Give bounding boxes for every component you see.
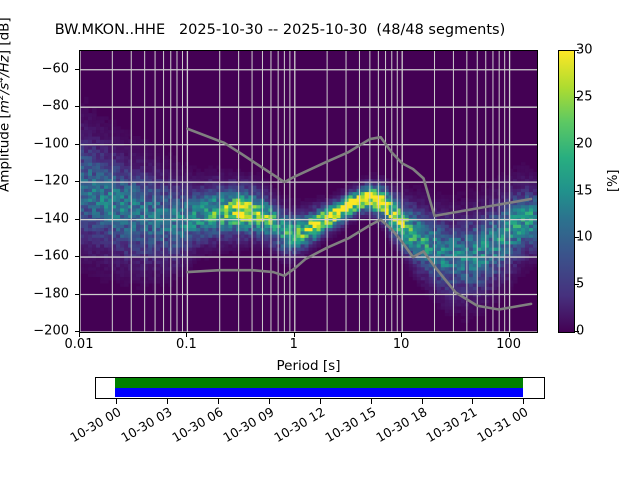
x-tick-label: 10 — [393, 337, 410, 352]
y-tick-label: −140 — [33, 211, 69, 226]
x-axis-label: Period [s] — [79, 358, 538, 374]
colorbar-tick-mark — [575, 97, 579, 98]
timeline-tick-mark — [472, 399, 473, 404]
x-tick-label: 100 — [496, 337, 521, 352]
x-tick-mark — [79, 333, 80, 337]
timeline-bar[interactable] — [95, 377, 545, 399]
x-tick-mark — [186, 333, 187, 337]
x-tick-mark — [401, 333, 402, 337]
colorbar-tick-mark — [575, 237, 579, 238]
colorbar-tick-mark — [575, 284, 579, 285]
timeline-tick-mark — [523, 399, 524, 404]
colorbar-tick-mark — [575, 50, 579, 51]
x-tick-mark — [294, 333, 295, 337]
ppsd-plot-area[interactable] — [79, 50, 538, 333]
y-tick-label: −100 — [33, 136, 69, 151]
ppsd-canvas — [80, 51, 537, 332]
timeline-segment-psd-coverage — [115, 388, 523, 398]
ppsd-figure: BW.MKON..HHE 2025-10-30 -- 2025-10-30 (4… — [0, 0, 640, 480]
colorbar — [558, 50, 575, 333]
x-tick-mark — [509, 333, 510, 337]
x-tick-label: 1 — [290, 337, 298, 352]
page-title: BW.MKON..HHE 2025-10-30 -- 2025-10-30 (4… — [0, 22, 560, 38]
y-tick-label: −60 — [42, 61, 69, 76]
y-tick-label: −80 — [42, 99, 69, 114]
colorbar-tick-mark — [575, 144, 579, 145]
colorbar-tick-mark — [575, 331, 579, 332]
y-tick-label: −160 — [33, 249, 69, 264]
x-tick-label: 0.01 — [65, 337, 94, 352]
colorbar-tick-mark — [575, 191, 579, 192]
x-tick-label: 0.1 — [176, 337, 197, 352]
y-tick-label: −180 — [33, 286, 69, 301]
timeline-segment-data-coverage — [115, 378, 523, 388]
y-tick-label: −120 — [33, 174, 69, 189]
